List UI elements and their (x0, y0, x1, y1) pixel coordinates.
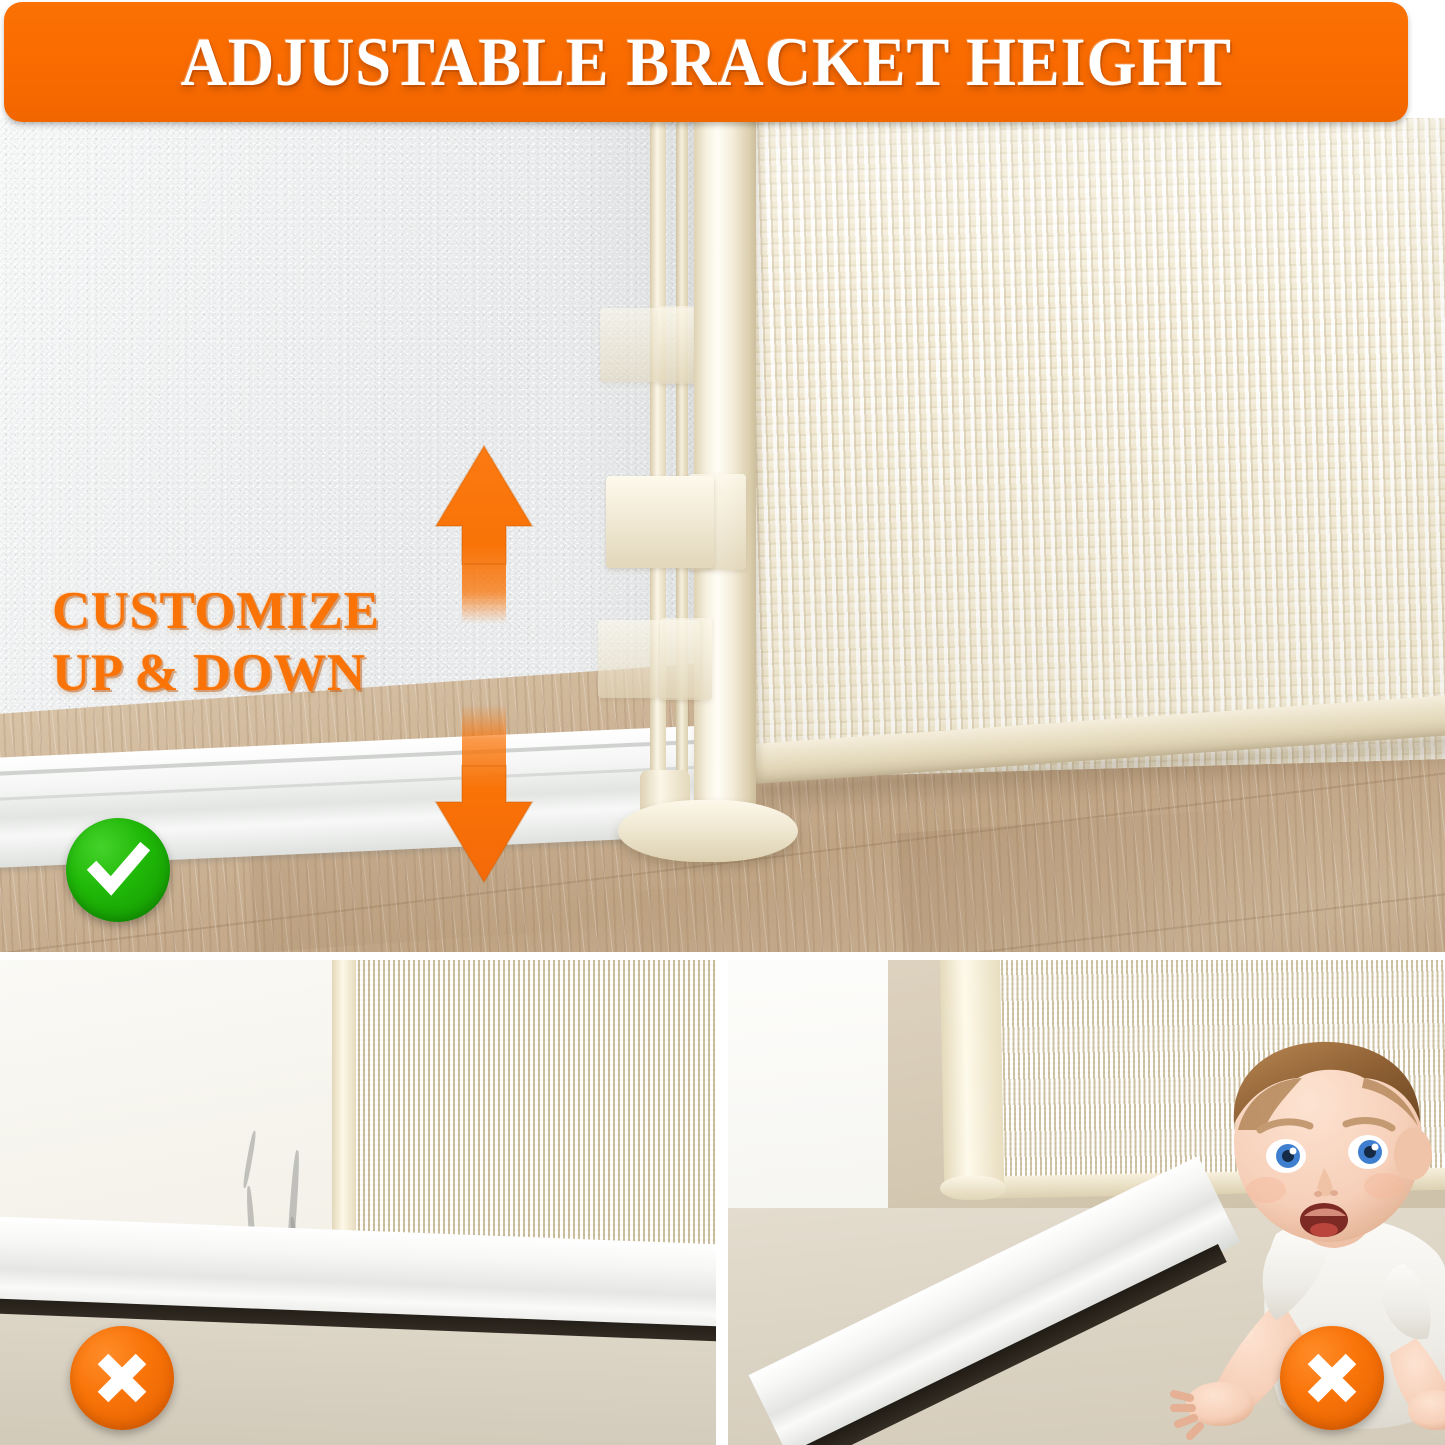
main-panel: CUSTOMIZE UP & DOWN (0, 118, 1445, 954)
adjustable-post (694, 118, 756, 818)
mesh-gate-panel (731, 118, 1445, 778)
adjustable-rod-right (676, 120, 688, 810)
x-circle-icon-right (1280, 1326, 1384, 1430)
x-circle-icon-left (70, 1326, 174, 1430)
gate-frame-post (940, 958, 1005, 1195)
headline-line-2: UP & DOWN (52, 642, 472, 704)
x-glyph (1301, 1347, 1363, 1409)
gate-base-foot (940, 1176, 1006, 1200)
bracket-position-bottom-inner (660, 618, 712, 700)
banner-title: ADJUSTABLE BRACKET HEIGHT (180, 23, 1231, 102)
headline-customize: CUSTOMIZE UP & DOWN (52, 580, 472, 704)
bracket-position-middle (606, 476, 714, 568)
header-banner: ADJUSTABLE BRACKET HEIGHT (4, 2, 1408, 122)
headline-line-1: CUSTOMIZE (52, 582, 380, 640)
product-feature-image: CUSTOMIZE UP & DOWN (0, 0, 1445, 1445)
arrow-down-icon (432, 704, 536, 884)
check-circle-icon (66, 818, 170, 922)
adjustable-rod-left (650, 120, 666, 810)
baby-ear (1394, 1128, 1432, 1180)
x-glyph (91, 1347, 153, 1409)
panel-divider-vertical (716, 952, 728, 1445)
floor-base-plate (618, 800, 798, 862)
check-glyph (85, 837, 151, 903)
